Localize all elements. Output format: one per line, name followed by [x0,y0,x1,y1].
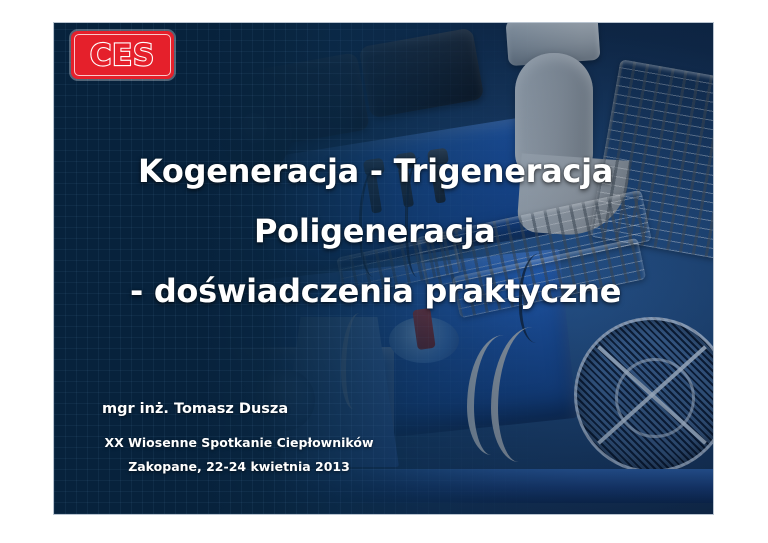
author-name: mgr inż. Tomasz Dusza [102,401,288,417]
presentation-slide: CES Kogeneracja - Trigeneracja Poligener… [54,23,713,514]
event-location-date: Zakopane, 22-24 kwietnia 2013 [74,455,404,479]
event-footer: XX Wiosenne Spotkanie Ciepłowników Zakop… [74,431,404,479]
title-line-3: - doświadczenia praktyczne [54,261,674,321]
title-line-2: Poligeneracja [54,201,674,261]
ces-logo-text: CES [90,38,155,72]
ces-logo: CES [71,31,174,79]
title-line-1: Kogeneracja - Trigeneracja [54,141,674,201]
event-name: XX Wiosenne Spotkanie Ciepłowników [74,431,404,455]
slide-title: Kogeneracja - Trigeneracja Poligeneracja… [54,141,674,321]
